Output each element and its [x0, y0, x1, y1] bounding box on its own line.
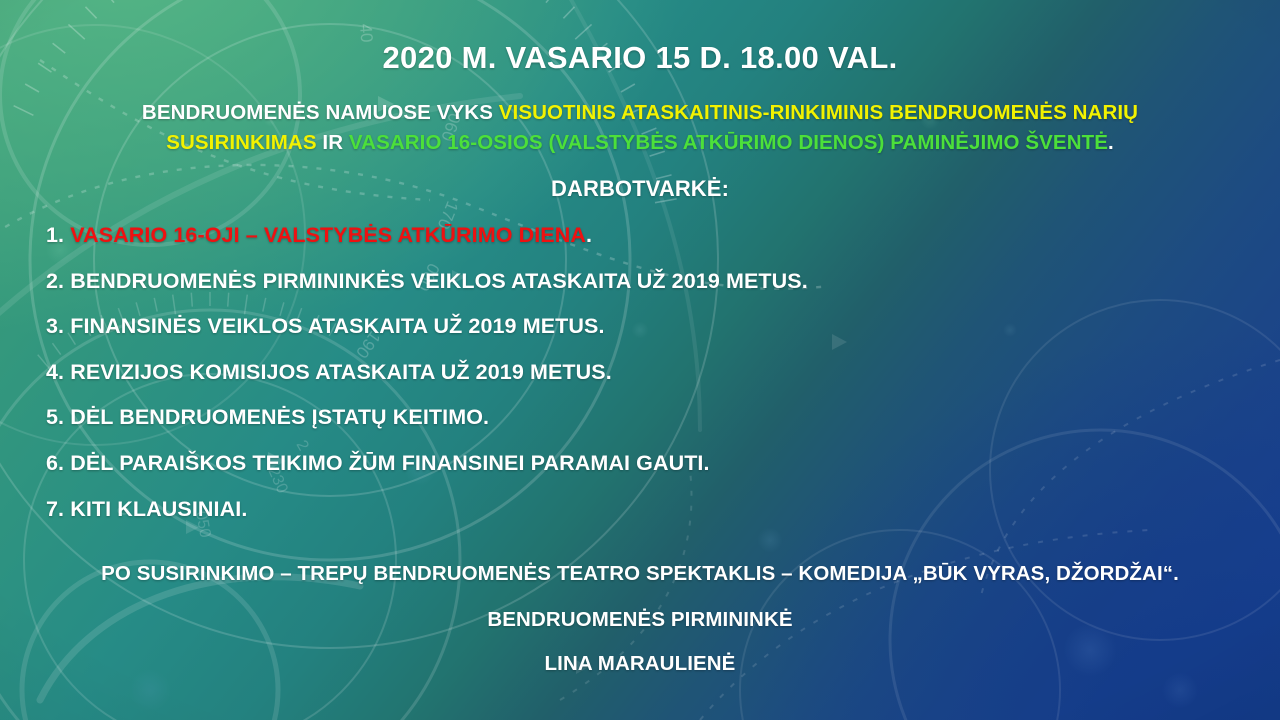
agenda-item-7: 7. KITI KLAUSINIAI. [46, 497, 247, 522]
agenda-item-6-number: 6. [46, 451, 64, 475]
subtitle-yellow-part-2: SUSIRINKIMAS [166, 131, 316, 154]
subtitle-green-part-1: VASARIO 16-OSIOS (VALSTYBĖS ATKŪRIMO DIE… [349, 131, 1108, 154]
footer-line-2-text: BENDRUOMENĖS PIRMININKĖ [487, 608, 792, 631]
agenda-item-3: 3. FINANSINĖS VEIKLOS ATASKAITA UŽ 2019 … [46, 314, 605, 339]
subtitle-yellow-part-1: VISUOTINIS ATASKAITINIS-RINKIMINIS BENDR… [499, 101, 1138, 124]
agenda-item-1-period: . [586, 223, 592, 247]
agenda-item-4: 4. REVIZIJOS KOMISIJOS ATASKAITA UŽ 2019… [46, 360, 612, 385]
agenda-item-6-text: DĖL PARAIŠKOS TEIKIMO ŽŪM FINANSINEI PAR… [70, 451, 709, 475]
page-title: 2020 M. VASARIO 15 D. 18.00 VAL. [0, 40, 1280, 76]
subtitle-line-1: BENDRUOMENĖS NAMUOSE VYKS VISUOTINIS ATA… [0, 101, 1280, 125]
agenda-item-5-number: 5. [46, 405, 64, 429]
subtitle-white-part-1: BENDRUOMENĖS NAMUOSE VYKS [142, 101, 499, 124]
footer-line-3-text: LINA MARAULIENĖ [545, 652, 736, 675]
agenda-item-2: 2. BENDRUOMENĖS PIRMININKĖS VEIKLOS ATAS… [46, 269, 808, 294]
footer-line-1-text: PO SUSIRINKIMO – TREPŲ BENDRUOMENĖS TEAT… [101, 562, 1179, 585]
agenda-item-2-text: BENDRUOMENĖS PIRMININKĖS VEIKLOS ATASKAI… [70, 269, 808, 293]
subtitle-white-part-2: IR [317, 131, 349, 154]
agenda-item-5-text: DĖL BENDRUOMENĖS ĮSTATŲ KEITIMO. [70, 405, 489, 429]
agenda-item-1-number: 1. [46, 223, 64, 247]
subtitle-line-2: SUSIRINKIMAS IR VASARIO 16-OSIOS (VALSTY… [0, 131, 1280, 155]
title-text: 2020 M. VASARIO 15 D. 18.00 VAL. [383, 40, 898, 75]
agenda-item-1-text: VASARIO 16-OJI – VALSTYBĖS ATKŪRIMO DIEN… [70, 223, 586, 247]
agenda-item-7-number: 7. [46, 497, 64, 521]
agenda-item-3-number: 3. [46, 314, 64, 338]
agenda-heading: DARBOTVARKĖ: [0, 176, 1280, 202]
agenda-item-2-number: 2. [46, 269, 64, 293]
footer-line-3: LINA MARAULIENĖ [0, 652, 1280, 676]
agenda-item-4-number: 4. [46, 360, 64, 384]
agenda-item-6: 6. DĖL PARAIŠKOS TEIKIMO ŽŪM FINANSINEI … [46, 451, 710, 476]
footer-line-1: PO SUSIRINKIMO – TREPŲ BENDRUOMENĖS TEAT… [0, 562, 1280, 586]
agenda-item-1: 1. VASARIO 16-OJI – VALSTYBĖS ATKŪRIMO D… [46, 223, 592, 248]
footer-line-2: BENDRUOMENĖS PIRMININKĖ [0, 608, 1280, 632]
agenda-item-7-text: KITI KLAUSINIAI. [70, 497, 247, 521]
agenda-item-3-text: FINANSINĖS VEIKLOS ATASKAITA UŽ 2019 MET… [70, 314, 604, 338]
agenda-item-4-text: REVIZIJOS KOMISIJOS ATASKAITA UŽ 2019 ME… [70, 360, 612, 384]
agenda-item-5: 5. DĖL BENDRUOMENĖS ĮSTATŲ KEITIMO. [46, 405, 489, 430]
agenda-heading-text: DARBOTVARKĖ: [551, 176, 729, 201]
slide-canvas: 40 060 170 080 190 [0, 0, 1280, 720]
slide-content: 2020 M. VASARIO 15 D. 18.00 VAL. BENDRUO… [0, 0, 1280, 720]
subtitle-white-part-3: . [1108, 131, 1114, 154]
